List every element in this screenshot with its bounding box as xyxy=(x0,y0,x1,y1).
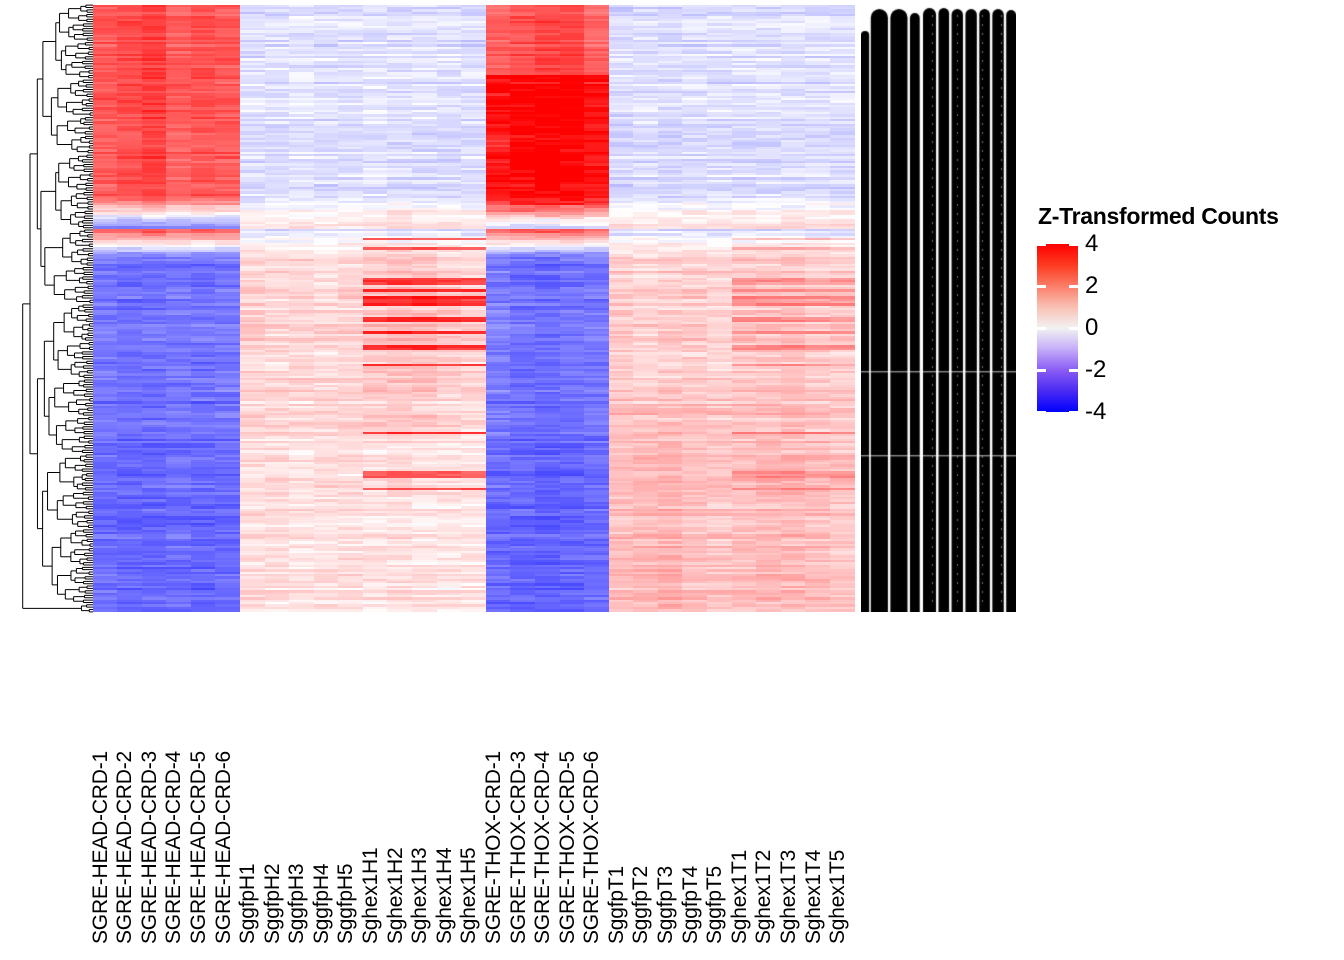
column-label: SggfpH3 xyxy=(285,864,309,944)
column-label: SGRE-HEAD-CRD-1 xyxy=(89,751,113,944)
colorbar-tick-right xyxy=(1069,285,1078,288)
colorbar-legend: Z-Transformed Counts 420-2-4 xyxy=(1035,203,1335,423)
column-label: Sghex1H1 xyxy=(359,848,383,944)
column-label: SGRE-HEAD-CRD-5 xyxy=(187,751,211,944)
colorbar-tick-left xyxy=(1037,327,1046,330)
column-label: SGRE-HEAD-CRD-2 xyxy=(113,751,137,944)
row-dendrogram xyxy=(16,4,93,613)
column-label: SGRE-HEAD-CRD-4 xyxy=(162,751,186,944)
column-label: SGRE-HEAD-CRD-3 xyxy=(138,751,162,944)
colorbar-tick-left xyxy=(1037,411,1046,414)
colorbar-tick-right xyxy=(1069,369,1078,372)
column-label: SGRE-THOX-CRD-5 xyxy=(556,751,580,944)
row-label-column xyxy=(861,5,1016,612)
column-label: SggfpH4 xyxy=(310,864,334,944)
column-label: Sghex1T3 xyxy=(777,850,801,944)
column-label: Sghex1T1 xyxy=(728,850,752,944)
column-label: SggfpH2 xyxy=(261,864,285,944)
column-label: Sghex1T4 xyxy=(802,850,826,944)
heatmap-figure: SGRE-HEAD-CRD-1SGRE-HEAD-CRD-2SGRE-HEAD-… xyxy=(0,0,1344,960)
colorbar-tick-label: 2 xyxy=(1085,274,1098,298)
colorbar-tick-label: -2 xyxy=(1085,358,1106,382)
column-label: Sghex1H5 xyxy=(457,848,481,944)
row-labels-canvas xyxy=(861,5,1016,612)
colorbar-tick-label: 4 xyxy=(1085,232,1098,256)
column-label: SggfpT5 xyxy=(703,866,727,944)
column-label: SGRE-THOX-CRD-4 xyxy=(531,751,555,944)
colorbar-tick-right xyxy=(1069,411,1078,414)
column-label: SGRE-THOX-CRD-6 xyxy=(580,751,604,944)
column-label: Sghex1H4 xyxy=(433,848,457,944)
column-label: SggfpT3 xyxy=(654,866,678,944)
heatmap-canvas[interactable] xyxy=(93,5,855,612)
column-label: SGRE-THOX-CRD-1 xyxy=(482,751,506,944)
colorbar-tick-right xyxy=(1069,327,1078,330)
column-label: SggfpH1 xyxy=(236,864,260,944)
colorbar-tick-left xyxy=(1037,243,1046,246)
column-label: SggfpT2 xyxy=(629,866,653,944)
colorbar-tick-label: -4 xyxy=(1085,400,1106,424)
heatmap-grid[interactable] xyxy=(93,5,855,612)
colorbar-tick-label: 0 xyxy=(1085,316,1098,340)
column-label: SggfpH5 xyxy=(334,864,358,944)
column-label: SggfpT4 xyxy=(679,866,703,944)
column-label: Sghex1T2 xyxy=(752,850,776,944)
column-label: SGRE-THOX-CRD-3 xyxy=(507,751,531,944)
colorbar-tick-left xyxy=(1037,369,1046,372)
legend-title: Z-Transformed Counts xyxy=(1038,203,1279,230)
column-label: Sghex1H3 xyxy=(408,848,432,944)
colorbar-tick-right xyxy=(1069,243,1078,246)
column-label: Sghex1H2 xyxy=(384,848,408,944)
column-label: SGRE-HEAD-CRD-6 xyxy=(212,751,236,944)
column-label: SggfpT1 xyxy=(605,866,629,944)
colorbar-tick-left xyxy=(1037,285,1046,288)
column-label: Sghex1T5 xyxy=(826,850,850,944)
column-axis-labels: SGRE-HEAD-CRD-1SGRE-HEAD-CRD-2SGRE-HEAD-… xyxy=(93,614,855,944)
